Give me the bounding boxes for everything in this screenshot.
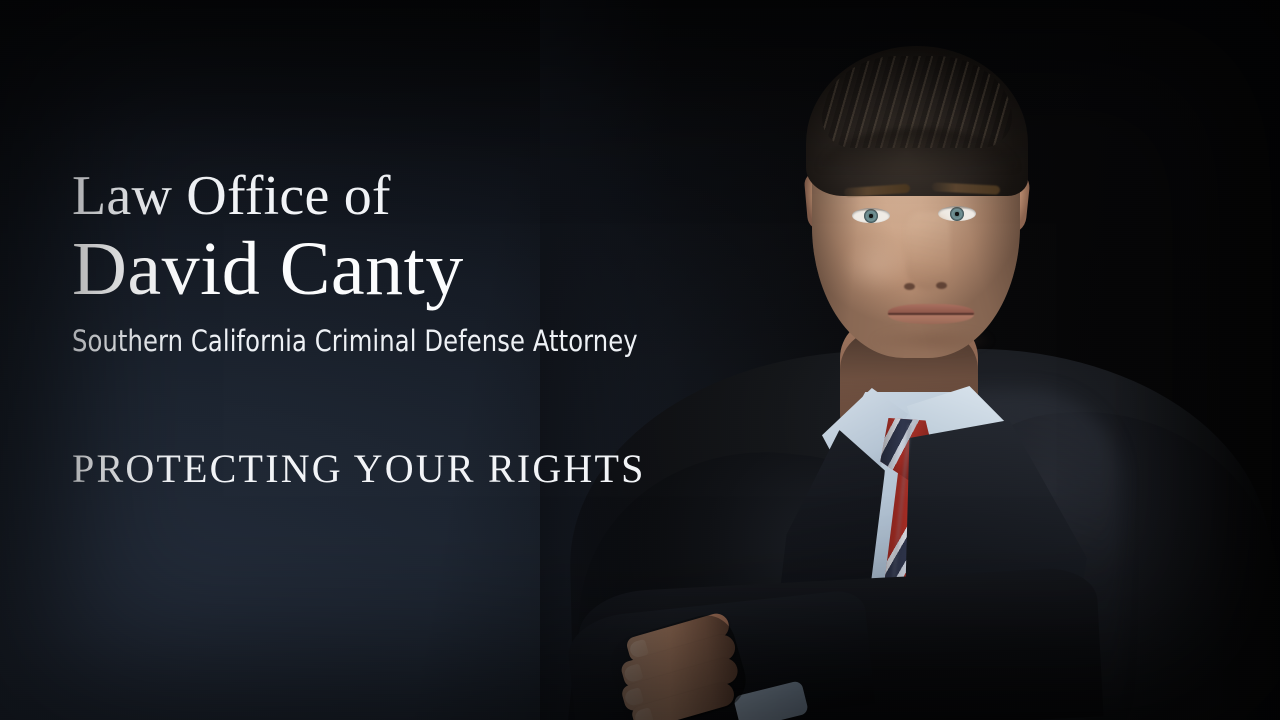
iris-right: [950, 207, 964, 221]
lip-line: [888, 313, 974, 315]
nostril-left: [904, 283, 915, 290]
firm-name-line-2: David Canty: [72, 228, 812, 310]
eyelid-right: [938, 206, 976, 209]
nostril-right: [936, 282, 947, 289]
eye-left: [852, 208, 890, 223]
chin-shadow: [870, 330, 994, 356]
practice-tagline: Southern California Criminal Defense Att…: [72, 324, 760, 359]
eyelid-left: [852, 208, 890, 211]
firm-name-line-1: Law Office of: [72, 168, 812, 224]
hero-text-block: Law Office of David Canty Southern Calif…: [72, 168, 812, 491]
hero-banner: Law Office of David Canty Southern Calif…: [0, 0, 1280, 720]
iris-left: [864, 209, 878, 223]
nose: [906, 212, 950, 290]
slogan: PROTECTING YOUR RIGHTS: [72, 447, 812, 491]
